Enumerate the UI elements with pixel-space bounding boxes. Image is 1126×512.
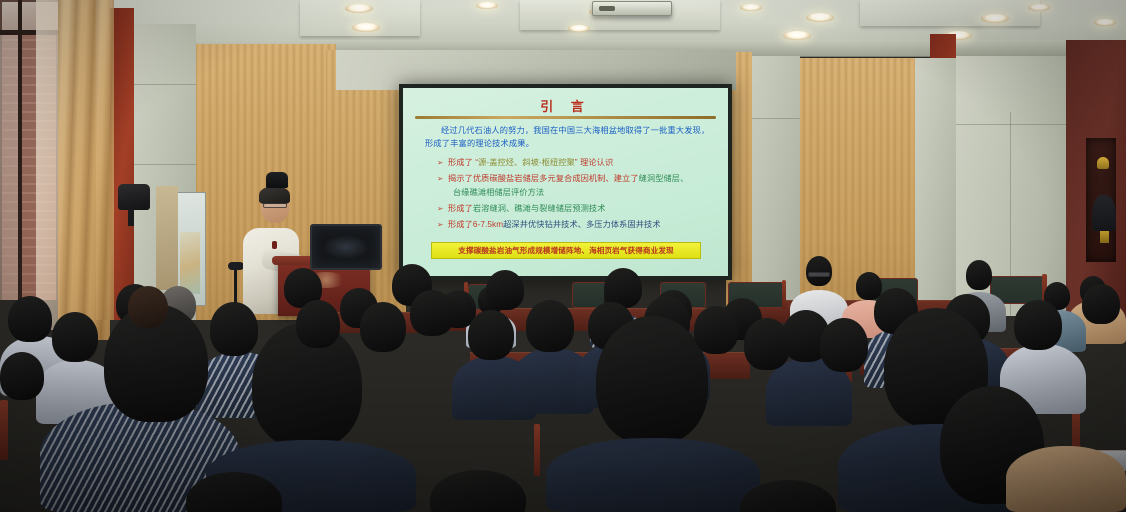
audience-head	[0, 352, 44, 400]
window-curtain-secondary	[96, 0, 114, 320]
bullet-4-part-2: 超深井优快钻井技术、多压力体系固井技术	[503, 220, 660, 229]
ceiling-light	[476, 2, 498, 9]
slide-title-rule	[415, 116, 716, 119]
bullet-2-part-2: 缝洞型储层、	[639, 174, 689, 183]
speaker-hair	[259, 186, 290, 204]
bullet-marker-icon: ➢	[437, 202, 443, 216]
ceiling-panel-right	[860, 0, 1040, 26]
poster-stand-artwork	[180, 232, 200, 294]
seated-person-head	[966, 260, 992, 290]
ceiling-light	[981, 14, 1009, 23]
podium-monitor[interactable]	[310, 224, 382, 270]
chair-frame	[0, 400, 8, 460]
slide-bullet-1: ➢ 形成了 “源-盖控烃、斜坡-枢纽控聚” 理论认识	[437, 156, 717, 170]
ceiling-light	[740, 4, 762, 11]
ceiling-light	[568, 25, 590, 32]
slide-title: 引 言	[403, 96, 728, 115]
bullet-marker-icon: ➢	[437, 156, 443, 170]
audience-head	[410, 290, 454, 336]
bullet-3-part-1: 形成了	[448, 204, 473, 213]
slide-bullet-list: ➢ 形成了 “源-盖控烃、斜坡-枢纽控聚” 理论认识 ➢ 揭示了优质碳酸盐岩储层…	[437, 156, 717, 234]
wall-speaker-bracket	[128, 208, 134, 226]
audience-shoulders-foreground	[1006, 446, 1126, 512]
bullet-marker-icon: ➢	[437, 172, 443, 186]
audience-head-foreground	[596, 316, 708, 444]
audience-head	[296, 300, 340, 348]
projection-screen: 引 言 经过几代石油人的努力，我国在中国三大海相盆地取得了一批重大发现，形成了丰…	[399, 84, 732, 280]
ceiling-projector	[592, 1, 672, 16]
window-mullion-vertical	[18, 0, 22, 300]
ceiling-light	[806, 13, 834, 22]
bullet-marker-icon: ➢	[437, 218, 443, 232]
slide-bullet-2: ➢ 揭示了优质碳酸盐岩储层多元复合成因机制、建立了缝洞型储层、 台缘礁滩相储层评…	[437, 172, 717, 199]
audience-head	[8, 296, 52, 342]
ceiling-light	[352, 23, 380, 32]
slide-highlight-banner-text: 支撑碳酸盐岩油气形成规模增储阵地、海相页岩气获得商业发现	[458, 245, 673, 256]
ceiling-light	[1028, 4, 1050, 11]
audience-head	[360, 302, 406, 352]
slide-bullet-3: ➢ 形成了岩溶缝洞、礁滩与裂缝储层预测技术	[437, 202, 717, 216]
podium-lamp-hood-icon	[266, 172, 288, 188]
bullet-3-part-2: 岩溶缝洞、礁滩与裂缝储层预测技术	[473, 204, 606, 213]
audience-head	[1014, 300, 1062, 350]
bell-trophy-base	[1100, 231, 1109, 243]
audience-head	[52, 312, 98, 362]
audience-head	[526, 300, 574, 352]
audience-head-foreground	[430, 470, 526, 512]
bullet-1-part-1: 形成了 “	[448, 158, 478, 167]
presentation-slide: 引 言 经过几代石油人的努力，我国在中国三大海相盆地取得了一批重大发现，形成了丰…	[403, 88, 728, 276]
speaker-eyeglasses-icon	[263, 203, 287, 208]
wall-speaker-icon	[118, 184, 150, 210]
bullet-2-continuation: 台缘礁滩相储层评价方法	[448, 186, 717, 200]
slide-intro-paragraph: 经过几代石油人的努力，我国在中国三大海相盆地取得了一批重大发现，形成了丰富的理论…	[425, 124, 711, 150]
window-glass-lower	[0, 34, 18, 300]
speaker-lapel-mic-icon	[272, 241, 277, 249]
seated-person-head	[806, 256, 832, 286]
seated-person-eyeglasses-icon	[808, 272, 830, 277]
ceiling-light	[345, 4, 373, 13]
bullet-1-part-3: ” 理论认识	[575, 158, 613, 167]
audience-shoulders-foreground	[546, 438, 760, 512]
bell-trophy-finial-icon	[1097, 157, 1109, 169]
audience-head	[210, 302, 258, 356]
ceiling-light	[1094, 19, 1116, 26]
mic-stand-head-icon	[228, 262, 244, 270]
chair-frame	[534, 424, 540, 476]
ceiling-light	[783, 31, 811, 40]
slide-highlight-banner: 支撑碳酸盐岩油气形成规模增储阵地、海相页岩气获得商业发现	[431, 242, 701, 259]
flipchart-board	[156, 186, 178, 290]
bullet-2-part-1: 揭示了优质碳酸盐岩储层多元复合成因机制、建立了	[448, 174, 639, 183]
bullet-4-part-1: 形成了6-7.5km	[448, 220, 503, 229]
wall-stone-midright	[912, 58, 956, 308]
monitor-screen-glow	[324, 235, 368, 259]
audience-head	[468, 310, 514, 360]
audience-head	[486, 270, 524, 310]
audience-head	[1082, 284, 1120, 324]
audience-head	[744, 318, 790, 370]
audience-head	[694, 306, 738, 354]
bell-trophy	[1092, 195, 1116, 231]
lecture-hall-photo: 引 言 经过几代石油人的努力，我国在中国三大海相盆地取得了一批重大发现，形成了丰…	[0, 0, 1126, 512]
audience-head	[128, 286, 168, 328]
chair-frame	[782, 280, 786, 310]
slide-bullet-4: ➢ 形成了6-7.5km超深井优快钻井技术、多压力体系固井技术	[437, 218, 717, 232]
bullet-1-part-2: 源-盖控烃、斜坡-枢纽控聚	[478, 158, 575, 167]
audience-head	[820, 318, 868, 372]
